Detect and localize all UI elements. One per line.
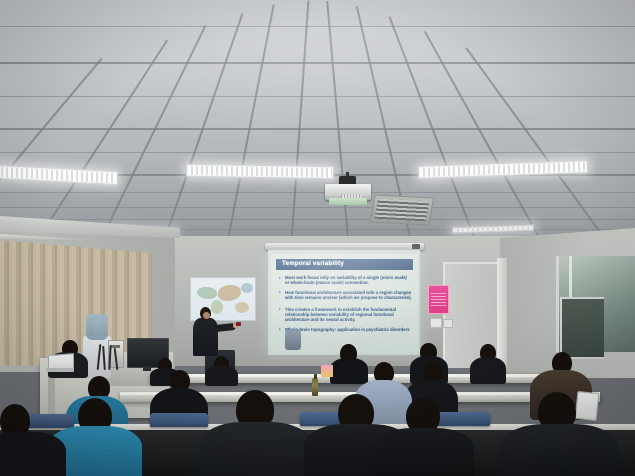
slide-bullet-list: Most work focus only on variability of a… bbox=[279, 275, 412, 336]
cable-bundle bbox=[96, 344, 126, 372]
screen-roller[interactable] bbox=[265, 243, 424, 250]
power-outlet[interactable] bbox=[443, 319, 453, 328]
water-bottle[interactable] bbox=[312, 378, 318, 396]
ceiling-grid-line bbox=[95, 25, 206, 248]
tablet[interactable] bbox=[575, 391, 600, 421]
door-frame bbox=[497, 258, 507, 368]
presenter-face bbox=[203, 312, 210, 319]
ceiling-grid-line bbox=[465, 47, 614, 248]
slide-title: Temporal variability bbox=[282, 260, 344, 267]
ceiling-grid-line bbox=[424, 31, 547, 248]
monitor-stand bbox=[143, 366, 151, 371]
chalkboard bbox=[560, 297, 604, 359]
projector-bracket bbox=[329, 198, 367, 205]
notice-poster bbox=[428, 285, 449, 314]
laptop-base bbox=[46, 368, 74, 372]
ceiling-grid-line bbox=[290, 1, 309, 248]
presenter-body bbox=[193, 318, 218, 356]
fluorescent-light-center bbox=[186, 164, 334, 180]
light-switch[interactable] bbox=[430, 318, 442, 328]
sticky-notes bbox=[321, 365, 333, 377]
presentation-remote[interactable] bbox=[236, 322, 241, 326]
air-vent bbox=[370, 194, 434, 225]
thermos bbox=[285, 330, 301, 350]
slide-bullet: Most work focus only on variability of a… bbox=[279, 275, 412, 286]
fluorescent-light-right bbox=[418, 160, 588, 179]
ceiling bbox=[0, 0, 635, 248]
water-bottle-jug bbox=[86, 314, 108, 340]
lecture-hall-photo: Temporal variability Most work focus onl… bbox=[0, 0, 635, 476]
fluorescent-light-far-right bbox=[452, 225, 534, 234]
ceiling-grid-line bbox=[326, 1, 350, 248]
screen-knob[interactable] bbox=[412, 244, 420, 249]
ceiling-grid-line bbox=[160, 13, 243, 248]
slide-bullet: How functional architecture associated w… bbox=[279, 290, 412, 301]
ceiling-grid-line bbox=[225, 4, 275, 248]
fluorescent-light-left bbox=[0, 165, 118, 185]
seat-back[interactable] bbox=[150, 413, 208, 427]
projector[interactable] bbox=[325, 176, 371, 202]
slide-bullet: This creates a framework to establish th… bbox=[279, 307, 412, 323]
ceiling-grid-line bbox=[30, 40, 168, 248]
